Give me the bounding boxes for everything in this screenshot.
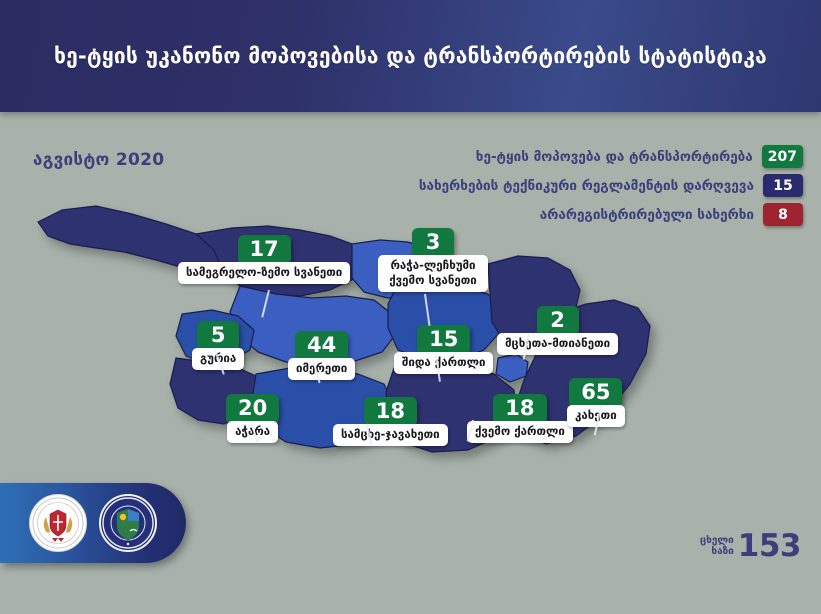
count-badge: 44: [295, 331, 348, 361]
coat-of-arms-icon: [32, 497, 84, 549]
region-name-plate: იმერეთი: [288, 358, 355, 380]
ministry-emblem-icon: [29, 494, 87, 552]
region-name-plate: სამცხე-ჯავახეთი: [333, 424, 448, 446]
region-name-plate: ქვემო ქართლი: [467, 421, 573, 443]
hotline-number: 153: [738, 528, 801, 564]
header-banner: ხე-ტყის უკანონო მოპოვებისა და ტრანსპორტი…: [0, 0, 821, 112]
page-title: ხე-ტყის უკანონო მოპოვებისა და ტრანსპორტი…: [0, 0, 821, 112]
region-name-plate: სამეგრელო-ზემო სვანეთი: [178, 262, 350, 284]
marker-adjara[interactable]: 20 აჭარა: [226, 394, 279, 443]
count-badge: 3: [412, 228, 454, 258]
marker-mtskheta-mtianeti[interactable]: 2 მცხეთა-მთიანეთი: [497, 306, 618, 355]
marker-imereti[interactable]: 44 იმერეთი: [288, 331, 355, 380]
marker-samtskhe-javakheti[interactable]: 18 სამცხე-ჯავახეთი: [333, 397, 448, 446]
count-badge: 18: [364, 397, 417, 427]
region-name-plate: შიდა ქართლი: [394, 352, 493, 374]
region-name-plate: მცხეთა-მთიანეთი: [497, 333, 618, 355]
count-badge: 17: [238, 235, 291, 265]
marker-kakheti[interactable]: 65 კახეთი: [567, 378, 625, 427]
hotline-label: ცხელი ხაზი: [700, 535, 734, 557]
agency-emblem-icon: [99, 494, 157, 552]
count-badge: 20: [226, 394, 279, 424]
count-badge: 2: [537, 306, 579, 336]
marker-racha-lechkhumi[interactable]: 3 რაჭა-ლეჩხუმი ქვემო სვანეთი: [378, 228, 488, 292]
count-badge: 5: [197, 321, 239, 351]
hotline: ცხელი ხაზი 153: [700, 528, 801, 564]
marker-kvemo-kartli[interactable]: 18 ქვემო ქართლი: [467, 394, 573, 443]
infographic-page: ხე-ტყის უკანონო მოპოვებისა და ტრანსპორტი…: [0, 0, 821, 614]
count-badge: 15: [417, 325, 470, 355]
count-badge: 18: [493, 394, 546, 424]
georgia-map: 17 სამეგრელო-ზემო სვანეთი 3 რაჭა-ლეჩხუმი…: [0, 118, 821, 538]
agency-seal-icon: [102, 497, 154, 549]
marker-shida-kartli[interactable]: 15 შიდა ქართლი: [394, 325, 493, 374]
logo-panel: [0, 483, 186, 563]
marker-samegrelo-zemo-svaneti[interactable]: 17 სამეგრელო-ზემო სვანეთი: [178, 235, 350, 284]
region-name-plate: რაჭა-ლეჩხუმი ქვემო სვანეთი: [378, 255, 488, 292]
count-badge: 65: [569, 378, 622, 408]
